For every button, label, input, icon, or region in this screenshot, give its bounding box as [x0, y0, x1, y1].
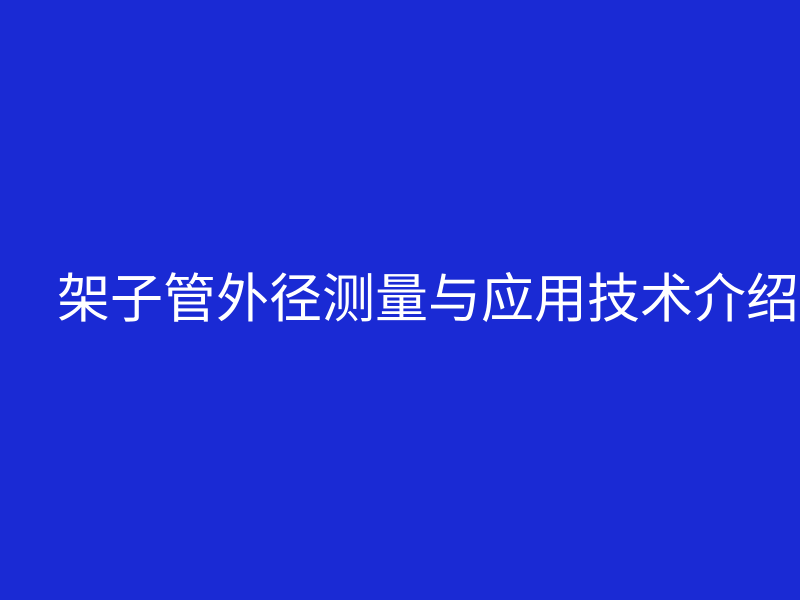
title-banner: 架子管外径测量与应用技术介绍 — [0, 0, 800, 600]
page-title: 架子管外径测量与应用技术介绍 — [0, 273, 799, 326]
